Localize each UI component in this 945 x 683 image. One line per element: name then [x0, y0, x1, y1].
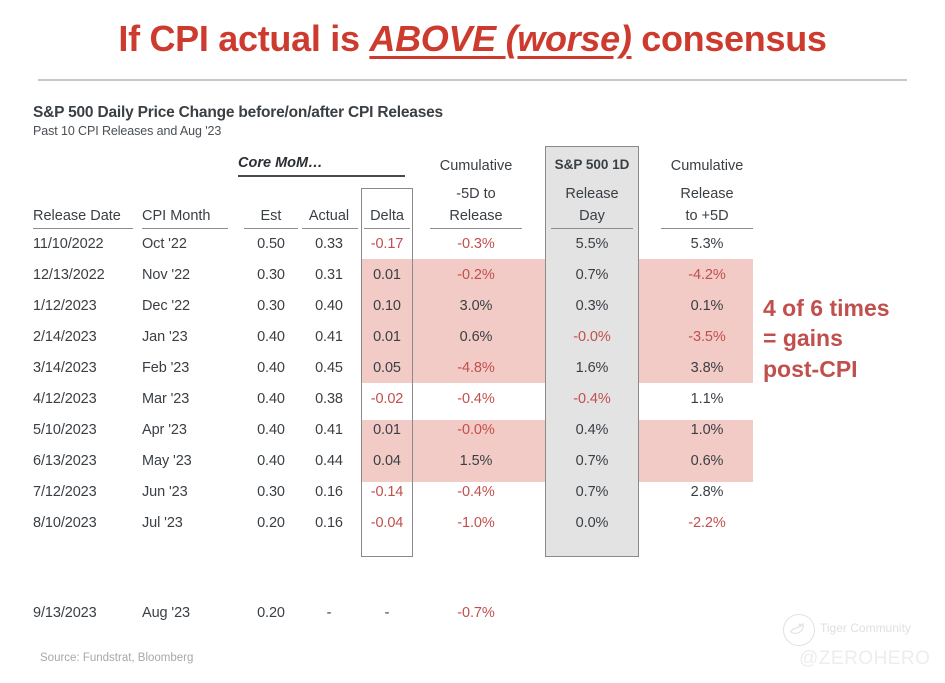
cell-delta: 0.01: [361, 267, 413, 283]
cell-cum-pre: -4.8%: [424, 360, 528, 376]
callout-line-1: 4 of 6 times: [763, 293, 890, 323]
group-header-cumulative-post: Cumulative: [655, 158, 759, 174]
cell-actual: -: [300, 605, 358, 621]
cell-cpi-month: Oct '22: [142, 236, 232, 252]
cell-release-date: 6/13/2023: [33, 453, 143, 469]
cell-actual: 0.41: [300, 329, 358, 345]
cell-release-day: 1.6%: [545, 360, 639, 376]
group-header-cumulative-pre: Cumulative: [424, 158, 528, 174]
watermark-name: Tiger Community: [820, 621, 911, 635]
cell-release-day: 0.3%: [545, 298, 639, 314]
cell-cum-post: -4.2%: [655, 267, 759, 283]
column-header-cum-post-line2: to +5D: [655, 208, 759, 224]
cell-cpi-month: Feb '23: [142, 360, 232, 376]
tiger-community-logo-icon: [783, 614, 815, 646]
cell-cum-pre: -0.2%: [424, 267, 528, 283]
cell-cum-pre: -1.0%: [424, 515, 528, 531]
cell-cpi-month: Jan '23: [142, 329, 232, 345]
cell-delta: 0.10: [361, 298, 413, 314]
cell-cum-pre: 3.0%: [424, 298, 528, 314]
cell-cum-post: 0.6%: [655, 453, 759, 469]
header-rule-cum-post: [661, 228, 753, 229]
cell-cpi-month: Mar '23: [142, 391, 232, 407]
group-header-core-mom: Core MoM…: [238, 155, 323, 171]
cell-actual: 0.16: [300, 515, 358, 531]
cell-cpi-month: Nov '22: [142, 267, 232, 283]
header-rule-release-date: [33, 228, 133, 229]
cell-est: 0.40: [244, 422, 298, 438]
cell-cum-pre: -0.0%: [424, 422, 528, 438]
cell-actual: 0.33: [300, 236, 358, 252]
cell-cpi-month: Aug '23: [142, 605, 232, 621]
cell-release-date: 2/14/2023: [33, 329, 143, 345]
column-header-cum-post-line1: Release: [655, 186, 759, 202]
cell-release-day: -0.4%: [545, 391, 639, 407]
header-rule-actual: [302, 228, 358, 229]
watermark-handle: @ZEROHERO: [799, 648, 930, 670]
cell-release-date: 12/13/2022: [33, 267, 143, 283]
cell-delta: -: [361, 605, 413, 621]
cell-actual: 0.41: [300, 422, 358, 438]
cell-delta: -0.14: [361, 484, 413, 500]
cell-actual: 0.31: [300, 267, 358, 283]
cell-delta: 0.01: [361, 422, 413, 438]
callout-annotation: 4 of 6 times = gains post-CPI: [763, 293, 890, 384]
cell-delta: -0.02: [361, 391, 413, 407]
cell-cpi-month: Jun '23: [142, 484, 232, 500]
cell-cum-post: 0.1%: [655, 298, 759, 314]
cell-release-date: 1/12/2023: [33, 298, 143, 314]
group-header-core-mom-rule: [238, 175, 405, 177]
cell-delta: -0.04: [361, 515, 413, 531]
cell-est: 0.20: [244, 605, 298, 621]
column-header-release-day-line1: Release: [545, 186, 639, 202]
cell-actual: 0.40: [300, 298, 358, 314]
cell-cum-post: 3.8%: [655, 360, 759, 376]
cell-cum-pre: 0.6%: [424, 329, 528, 345]
column-header-cpi-month: CPI Month: [142, 208, 211, 224]
header-rule-release-day: [551, 228, 633, 229]
cell-actual: 0.44: [300, 453, 358, 469]
cell-actual: 0.45: [300, 360, 358, 376]
cell-delta: 0.01: [361, 329, 413, 345]
cell-est: 0.50: [244, 236, 298, 252]
header-rule-delta: [364, 228, 410, 229]
cell-release-date: 3/14/2023: [33, 360, 143, 376]
cell-release-day: 0.7%: [545, 267, 639, 283]
cell-delta: -0.17: [361, 236, 413, 252]
column-header-release-date: Release Date: [33, 208, 121, 224]
cell-release-day: 0.4%: [545, 422, 639, 438]
cell-cpi-month: Jul '23: [142, 515, 232, 531]
cell-cpi-month: Dec '22: [142, 298, 232, 314]
column-header-est: Est: [244, 208, 298, 224]
cell-cum-post: -3.5%: [655, 329, 759, 345]
cell-release-day: -0.0%: [545, 329, 639, 345]
cell-release-date: 9/13/2023: [33, 605, 143, 621]
cell-est: 0.40: [244, 329, 298, 345]
column-header-actual: Actual: [300, 208, 358, 224]
cell-cum-post: 2.8%: [655, 484, 759, 500]
cell-cum-post: -2.2%: [655, 515, 759, 531]
cell-delta: 0.05: [361, 360, 413, 376]
cell-release-date: 4/12/2023: [33, 391, 143, 407]
cell-est: 0.30: [244, 267, 298, 283]
cell-cum-post: 1.1%: [655, 391, 759, 407]
cell-actual: 0.16: [300, 484, 358, 500]
column-header-delta: Delta: [361, 208, 413, 224]
header-rule-est: [244, 228, 298, 229]
watermark: Tiger Community @ZEROHERO: [783, 612, 943, 678]
cell-release-date: 5/10/2023: [33, 422, 143, 438]
cell-release-day: 0.7%: [545, 453, 639, 469]
cell-cum-post: 1.0%: [655, 422, 759, 438]
cell-cum-post: 5.3%: [655, 236, 759, 252]
column-header-release-day-line2: Day: [545, 208, 639, 224]
cell-est: 0.40: [244, 453, 298, 469]
cell-actual: 0.38: [300, 391, 358, 407]
column-header-cum-pre-line1: -5D to: [424, 186, 528, 202]
cell-release-day: 0.7%: [545, 484, 639, 500]
cell-cum-pre: -0.4%: [424, 484, 528, 500]
cell-delta: 0.04: [361, 453, 413, 469]
cell-cpi-month: May '23: [142, 453, 232, 469]
cell-cum-pre: -0.3%: [424, 236, 528, 252]
header-rule-cpi-month: [142, 228, 228, 229]
cell-est: 0.40: [244, 391, 298, 407]
cell-cum-pre: -0.7%: [424, 605, 528, 621]
cell-release-day: 5.5%: [545, 236, 639, 252]
cell-release-date: 7/12/2023: [33, 484, 143, 500]
source-note: Source: Fundstrat, Bloomberg: [40, 652, 193, 664]
cell-cum-pre: 1.5%: [424, 453, 528, 469]
column-header-cum-pre-line2: Release: [424, 208, 528, 224]
cell-release-date: 11/10/2022: [33, 236, 143, 252]
callout-line-3: post-CPI: [763, 354, 890, 384]
cell-est: 0.30: [244, 484, 298, 500]
cell-release-date: 8/10/2023: [33, 515, 143, 531]
cell-est: 0.30: [244, 298, 298, 314]
cell-release-day: 0.0%: [545, 515, 639, 531]
cell-cum-pre: -0.4%: [424, 391, 528, 407]
callout-line-2: = gains: [763, 323, 890, 353]
cell-est: 0.40: [244, 360, 298, 376]
header-rule-cum-pre: [430, 228, 522, 229]
group-header-sp500-1d: S&P 500 1D: [545, 157, 639, 172]
cell-est: 0.20: [244, 515, 298, 531]
cell-cpi-month: Apr '23: [142, 422, 232, 438]
